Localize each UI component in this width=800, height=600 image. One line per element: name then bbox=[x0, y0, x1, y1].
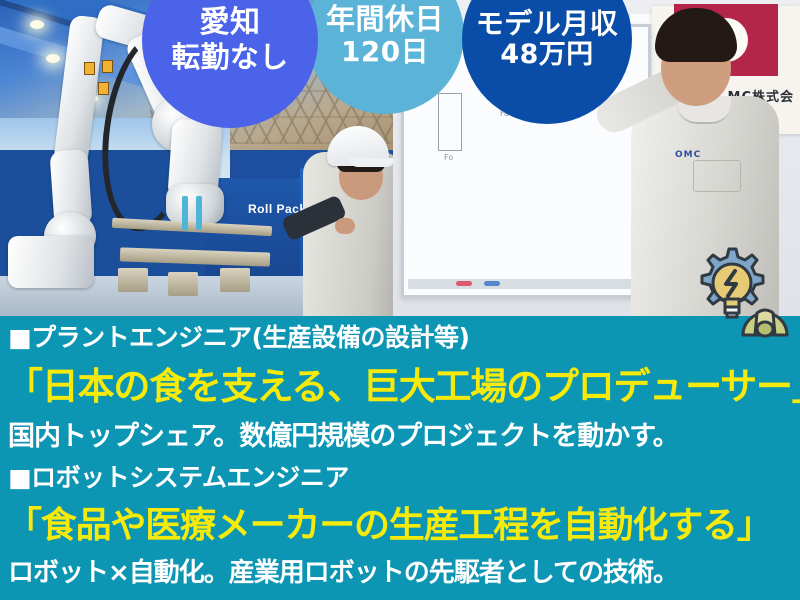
sketch-rect bbox=[438, 93, 462, 151]
badge-location-line1: 愛知 bbox=[200, 6, 261, 40]
warning-label bbox=[84, 62, 95, 75]
recruitment-poster: Roll Packer Roll Pac OMC bbox=[0, 0, 800, 600]
uniform-logo: OMC bbox=[675, 150, 701, 160]
badge-holidays-line2: 120日 bbox=[341, 36, 429, 68]
warning-label bbox=[102, 60, 113, 73]
job-text-panel: ■プラントエンジニア(生産設備の設計等) 「日本の食を支える、巨大工場のプロデュ… bbox=[0, 316, 800, 600]
gripper-finger bbox=[118, 268, 148, 292]
badge-location-line2: 転勤なし bbox=[171, 41, 288, 74]
badge-holidays-line1: 年間休日 bbox=[326, 3, 444, 36]
gripper-finger bbox=[220, 268, 250, 292]
blue-marker bbox=[484, 281, 500, 286]
badge-salary-line2: 48万円 bbox=[500, 40, 593, 71]
job-2-title: 「食品や医療メーカーの生産工程を自動化する」 bbox=[0, 496, 800, 548]
gear-lightbulb-helmet-icon bbox=[683, 243, 791, 339]
uniform-pocket bbox=[693, 160, 741, 192]
ceiling-lamp bbox=[30, 20, 44, 29]
badge-salary-line1: モデル月収 bbox=[476, 8, 619, 40]
worker-helmet-brim bbox=[349, 158, 393, 167]
job-block-robot-system-engineer: ■ロボットシステムエンジニア 「食品や医療メーカーの生産工程を自動化する」 ロボ… bbox=[0, 458, 800, 589]
job-2-heading: ■ロボットシステムエンジニア bbox=[0, 458, 800, 494]
ceiling-lamp bbox=[46, 54, 60, 63]
job-1-subtitle: 国内トップシェア。数億円規模のプロジェクトを動かす。 bbox=[0, 414, 800, 453]
job-1-heading: ■プラントエンジニア(生産設備の設計等) bbox=[0, 318, 800, 354]
gripper-tube bbox=[196, 196, 202, 230]
job-1-title: 「日本の食を支える、巨大工場のプロデューサー」 bbox=[0, 356, 800, 410]
robot-base bbox=[8, 236, 94, 288]
job-block-plant-engineer: ■プラントエンジニア(生産設備の設計等) 「日本の食を支える、巨大工場のプロデュ… bbox=[0, 318, 800, 453]
whiteboard-tray bbox=[408, 279, 644, 289]
gripper-tube bbox=[182, 196, 188, 230]
sketch-label: Fo bbox=[444, 153, 453, 162]
red-marker bbox=[456, 281, 472, 286]
warning-label bbox=[98, 82, 109, 95]
worker-hand bbox=[335, 218, 355, 234]
gripper-finger bbox=[168, 272, 198, 296]
job-2-subtitle: ロボット×自動化。産業用ロボットの先駆者としての技術。 bbox=[0, 552, 800, 589]
